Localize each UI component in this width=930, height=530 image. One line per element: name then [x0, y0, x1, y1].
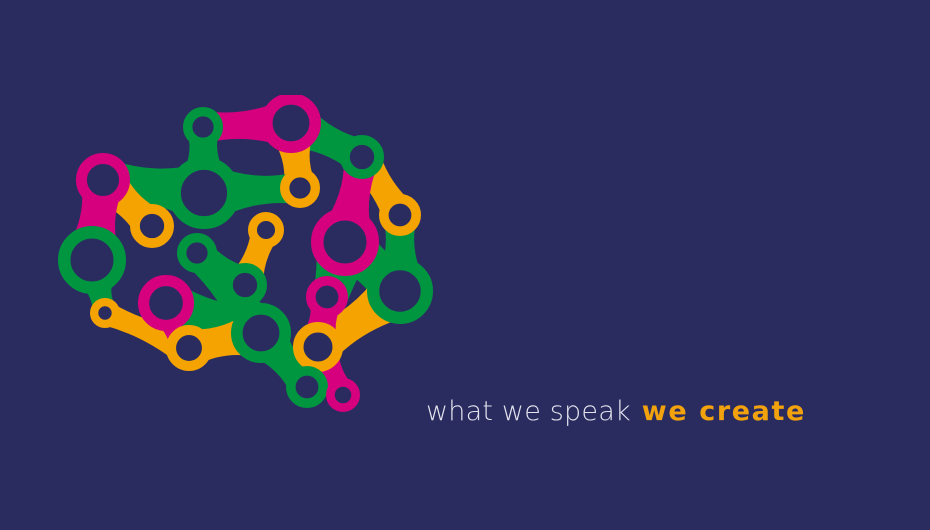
slide-canvas: what we speak we create — [0, 0, 930, 530]
tagline-light-text: what we speak — [426, 396, 631, 427]
tagline-accent-text: we create — [642, 396, 806, 427]
tagline: what we speak we create — [426, 391, 806, 431]
brain-network-logo — [55, 95, 435, 435]
brain-network-svg — [55, 95, 435, 435]
